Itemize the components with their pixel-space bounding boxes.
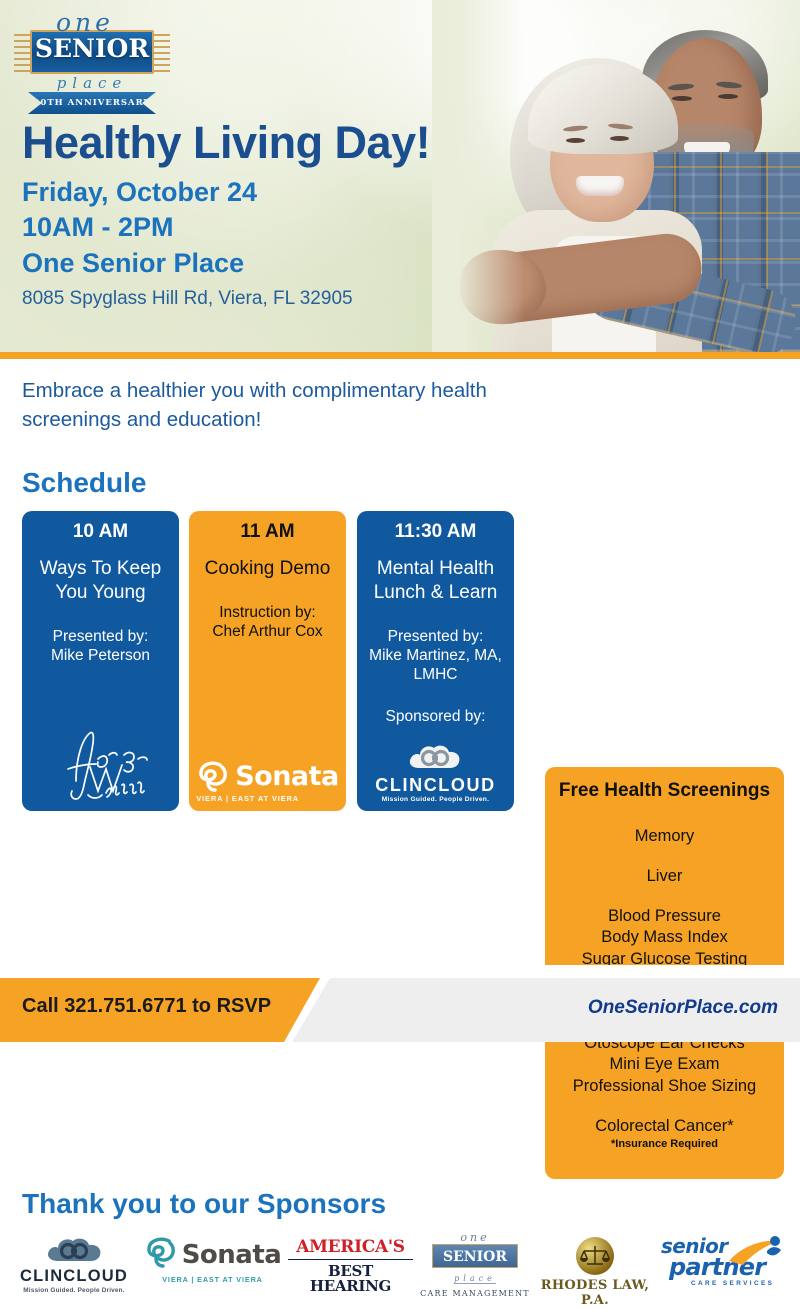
sonata-swirl-icon xyxy=(196,759,230,793)
rhodes-law-wordmark: RHODES LAW, P.A. xyxy=(530,1278,660,1308)
abh-line1: AMERICA'S xyxy=(288,1239,413,1256)
schedule-card-1130am[interactable]: 11:30 AM Mental Health Lunch & Learn Pre… xyxy=(357,511,514,811)
card-title: Mental Health Lunch & Learn xyxy=(365,557,506,605)
hero-banner: one SENIOR place 20TH ANNIVERSARY Health… xyxy=(0,0,800,352)
clincloud-logo: CLINCLOUD Mission Guided. People Driven. xyxy=(375,741,495,803)
sponsor-sonata[interactable]: Sonata VIERA | EAST AT VIERA xyxy=(140,1235,285,1284)
orange-divider xyxy=(0,352,800,359)
schedule-heading: Schedule xyxy=(22,467,146,499)
card-instructor-name: Chef Arthur Cox xyxy=(212,622,322,641)
hero-text-block: Healthy Living Day! Friday, October 24 1… xyxy=(22,118,430,310)
sponsor-rhodes-law[interactable]: RHODES LAW, P.A. xyxy=(530,1237,660,1308)
screenings-group-5: Colorectal Cancer* xyxy=(551,1116,778,1138)
woman-eye-left xyxy=(566,138,585,143)
card-presenter-label: Presented by: xyxy=(53,627,149,646)
screenings-title: Free Health Screenings xyxy=(551,779,778,802)
screenings-group-1: Memory xyxy=(551,826,778,848)
schedule-card-11am[interactable]: 11 AM Cooking Demo Instruction by: Chef … xyxy=(189,511,346,811)
logo-anniversary-ribbon: 20TH ANNIVERSARY xyxy=(28,92,156,114)
card-title: Ways To Keep You Young xyxy=(30,557,171,605)
logo-senior-text: SENIOR xyxy=(32,34,152,63)
card-time: 11 AM xyxy=(240,521,294,543)
card-instructor-label: Instruction by: xyxy=(219,603,316,622)
schedule-card-10am[interactable]: 10 AM Ways To Keep You Young Presented b… xyxy=(22,511,179,811)
sponsor-logo-row: CLINCLOUD Mission Guided. People Driven.… xyxy=(0,1231,800,1303)
event-venue: One Senior Place xyxy=(22,245,430,281)
sponsor-one-senior-place-care-management[interactable]: one SENIOR place CARE MANAGEMENT xyxy=(420,1231,530,1298)
osp-senior-text: SENIOR xyxy=(443,1249,507,1265)
clincloud-tagline: Mission Guided. People Driven. xyxy=(10,1287,138,1294)
logo-place-text: place xyxy=(32,74,152,92)
cloud-icon xyxy=(10,1233,138,1268)
page-title: Healthy Living Day! xyxy=(22,118,430,168)
spacer xyxy=(551,848,778,866)
sponsor-clincloud[interactable]: CLINCLOUD Mission Guided. People Driven. xyxy=(10,1233,138,1294)
card-title: Cooking Demo xyxy=(205,557,331,581)
screening-item: Memory xyxy=(551,826,778,848)
card-presenter-name: Mike Martinez, MA, LMHC xyxy=(365,646,506,685)
osp-tagline: CARE MANAGEMENT xyxy=(420,1289,530,1298)
screening-item: Blood Pressure xyxy=(551,906,778,928)
sonata-tagline: VIERA | EAST AT VIERA xyxy=(140,1275,285,1284)
scales-of-justice-icon xyxy=(576,1237,614,1275)
sponsor-americas-best-hearing[interactable]: AMERICA'S BEST HEARING xyxy=(288,1239,413,1294)
event-date: Friday, October 24 xyxy=(22,176,430,208)
osp-place-text: place xyxy=(454,1274,496,1284)
clincloud-wordmark: CLINCLOUD xyxy=(10,1268,138,1285)
sonata-logo: Sonata VIERA | EAST AT VIERA xyxy=(196,757,339,803)
footer-bar: Call 321.751.6771 to RSVP OneSeniorPlace… xyxy=(0,965,800,1042)
clincloud-wordmark: CLINCLOUD xyxy=(375,776,495,794)
website-link[interactable]: OneSeniorPlace.com xyxy=(588,997,778,1019)
divider xyxy=(288,1259,413,1260)
logo-one-text: one xyxy=(56,8,114,37)
osp-plaque: SENIOR xyxy=(432,1244,518,1268)
are-we-living-logo xyxy=(46,725,156,803)
spacer xyxy=(551,802,778,826)
card-time: 11:30 AM xyxy=(395,521,477,543)
sonata-wordmark: Sonata xyxy=(235,763,339,790)
photo-left-fade xyxy=(432,0,524,352)
screenings-group-4: Otoscope Ear Checks Mini Eye Exam Profes… xyxy=(551,1033,778,1098)
senior-partner-tagline: CARE SERVICES xyxy=(655,1280,787,1287)
sonata-tagline: VIERA | EAST AT VIERA xyxy=(196,794,339,803)
sponsor-senior-partner-care-services[interactable]: senior partner CARE SERVICES xyxy=(655,1237,787,1287)
cloud-icon xyxy=(375,741,495,776)
man-eye-left xyxy=(672,96,692,101)
sonata-wordmark: Sonata xyxy=(182,1242,282,1268)
clincloud-tagline: Mission Guided. People Driven. xyxy=(375,796,495,803)
screening-item: Mini Eye Exam xyxy=(551,1054,778,1076)
man-eye-right xyxy=(718,94,738,99)
intro-text: Embrace a healthier you with complimenta… xyxy=(22,376,532,434)
main-content: Embrace a healthier you with complimenta… xyxy=(0,359,800,965)
screening-item: Liver xyxy=(551,866,778,888)
sonata-swirl-icon xyxy=(144,1235,178,1274)
abh-line2: BEST HEARING xyxy=(288,1264,413,1294)
rsvp-phone-cta[interactable]: Call 321.751.6771 to RSVP xyxy=(22,995,271,1018)
screenings-group-2: Liver xyxy=(551,866,778,888)
screening-item: Body Mass Index xyxy=(551,927,778,949)
spacer xyxy=(551,888,778,906)
screening-item: Professional Shoe Sizing xyxy=(551,1076,778,1098)
woman-eye-right xyxy=(610,136,629,141)
event-address: 8085 Spyglass Hill Rd, Viera, FL 32905 xyxy=(22,288,430,310)
card-sponsor-label: Sponsored by: xyxy=(386,707,486,726)
screenings-note: *Insurance Required xyxy=(551,1138,778,1150)
spacer xyxy=(551,1098,778,1116)
swoosh-people-icon xyxy=(727,1235,787,1269)
osp-one-text: one xyxy=(420,1231,530,1244)
event-time: 10AM - 2PM xyxy=(22,209,430,245)
woman-smile xyxy=(576,176,624,196)
card-presenter-name: Mike Peterson xyxy=(51,646,150,665)
screening-item: Colorectal Cancer* xyxy=(551,1116,778,1138)
senior-couple-photo xyxy=(432,0,800,352)
sponsors-heading: Thank you to our Sponsors xyxy=(22,1188,386,1220)
card-presenter-label: Presented by: xyxy=(388,627,484,646)
one-senior-place-logo[interactable]: one SENIOR place 20TH ANNIVERSARY xyxy=(12,8,172,116)
card-time: 10 AM xyxy=(73,521,128,543)
